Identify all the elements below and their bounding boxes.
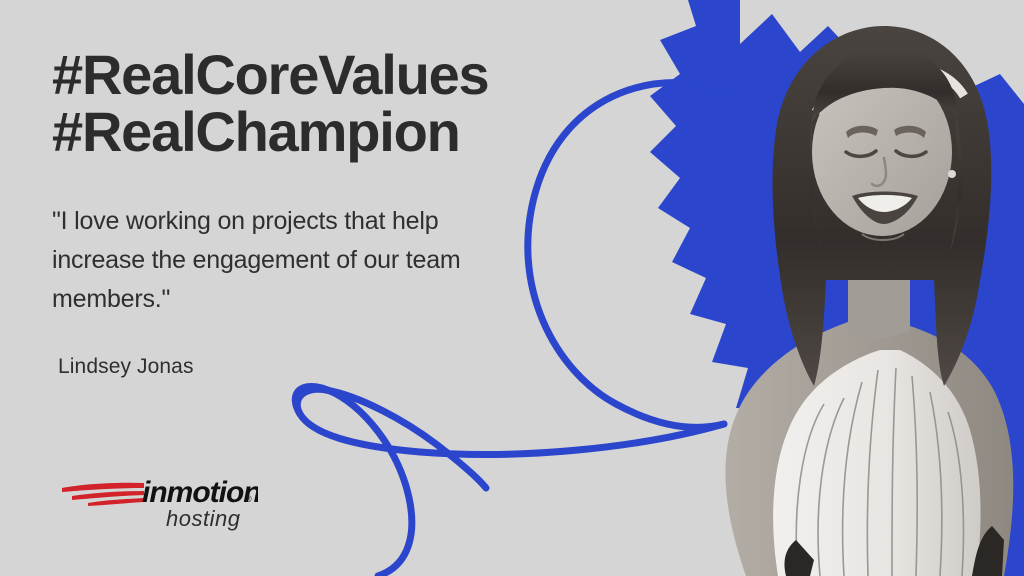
logo-registered-mark: ® — [245, 494, 252, 504]
copy-block: #RealCoreValues #RealChampion "I love wo… — [52, 46, 572, 379]
quote-text: "I love working on projects that help in… — [52, 202, 482, 319]
inmotion-hosting-logo: inmotion ® hosting — [58, 466, 258, 534]
logo-wordmark: inmotion — [142, 476, 258, 509]
headline-line-2: #RealChampion — [52, 103, 572, 160]
logo-tagline: hosting — [166, 506, 241, 531]
red-swoosh-icon — [62, 483, 144, 506]
portrait-photo — [600, 0, 1024, 576]
earring — [948, 170, 956, 178]
graphic-canvas: #RealCoreValues #RealChampion "I love wo… — [0, 0, 1024, 576]
page-title: #RealCoreValues #RealChampion — [52, 46, 572, 160]
headline-line-1: #RealCoreValues — [52, 43, 488, 106]
quote-attribution: Lindsey Jonas — [52, 355, 572, 379]
